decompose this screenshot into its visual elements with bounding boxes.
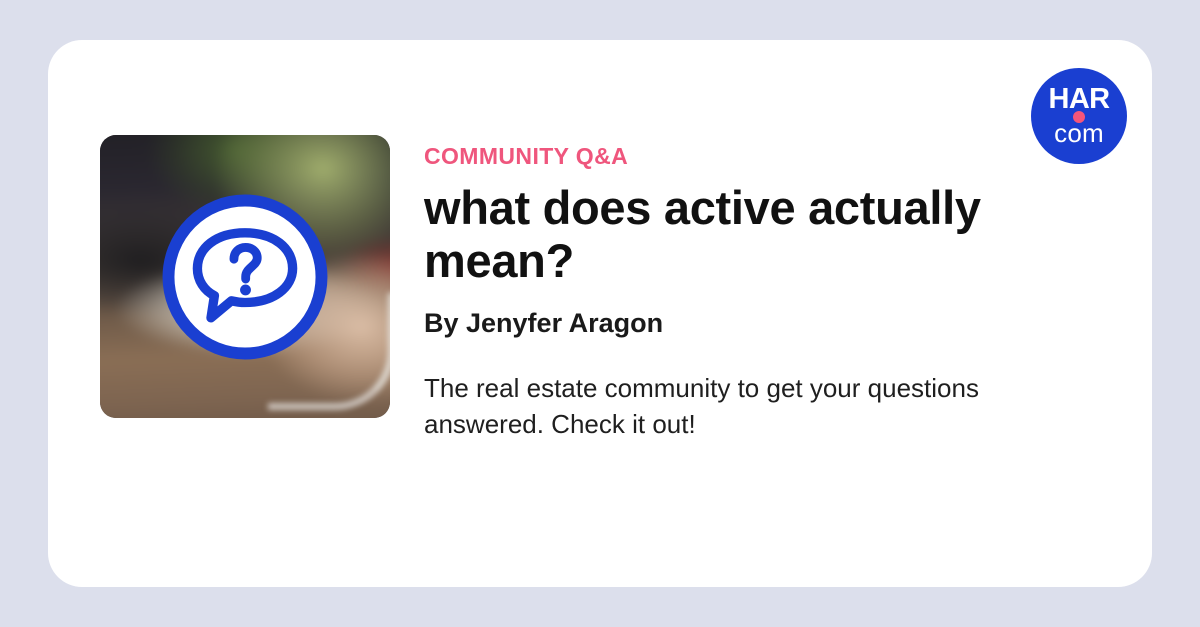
- article-card[interactable]: COMMUNITY Q&A what does active actually …: [48, 40, 1152, 587]
- article-thumbnail[interactable]: [100, 135, 390, 418]
- article-description: The real estate community to get your qu…: [424, 371, 1064, 443]
- article-content: COMMUNITY Q&A what does active actually …: [424, 145, 1124, 443]
- screenshot-stage: COMMUNITY Q&A what does active actually …: [0, 0, 1200, 627]
- question-speech-bubble-icon: [160, 192, 330, 362]
- page-title: what does active actually mean?: [424, 182, 1124, 287]
- logo-com-text: com: [1031, 120, 1127, 146]
- logo-har-text: HAR: [1031, 85, 1127, 114]
- author-byline: By Jenyfer Aragon: [424, 309, 1124, 339]
- category-eyebrow: COMMUNITY Q&A: [424, 145, 1124, 168]
- har-com-logo[interactable]: HAR com: [1031, 68, 1127, 164]
